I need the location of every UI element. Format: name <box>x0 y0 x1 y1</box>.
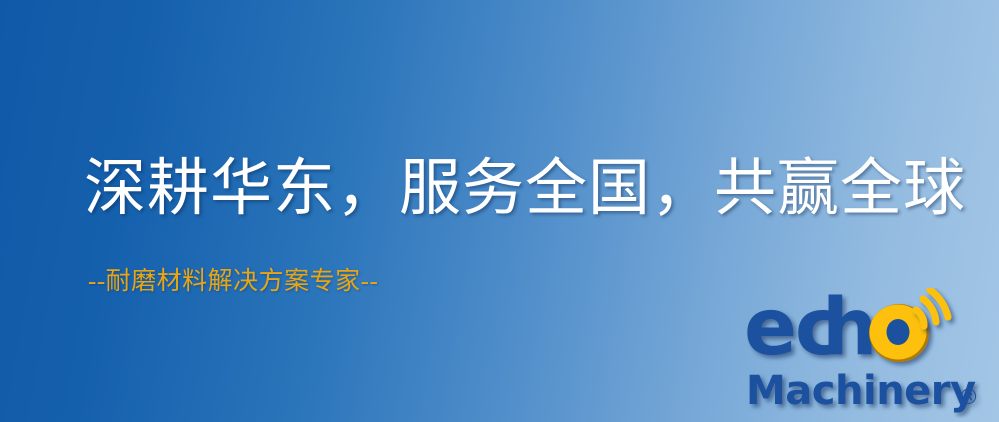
logo-signal-arcs <box>916 290 948 326</box>
banner-headline: 深耕华东，服务全国，共赢全球 <box>84 151 966 227</box>
hero-banner: 深耕华东，服务全国，共赢全球 --耐磨材料解决方案专家-- ec h <box>0 0 999 422</box>
logo-wordmark-echo: ec h <box>744 288 929 373</box>
banner-subtitle: --耐磨材料解决方案专家-- <box>88 266 378 298</box>
logo-tagline-machinery: Machinery <box>746 368 976 414</box>
echo-machinery-logo[interactable]: ec h Machinery ® <box>744 288 994 418</box>
logo-registered-mark: ® <box>958 385 979 409</box>
